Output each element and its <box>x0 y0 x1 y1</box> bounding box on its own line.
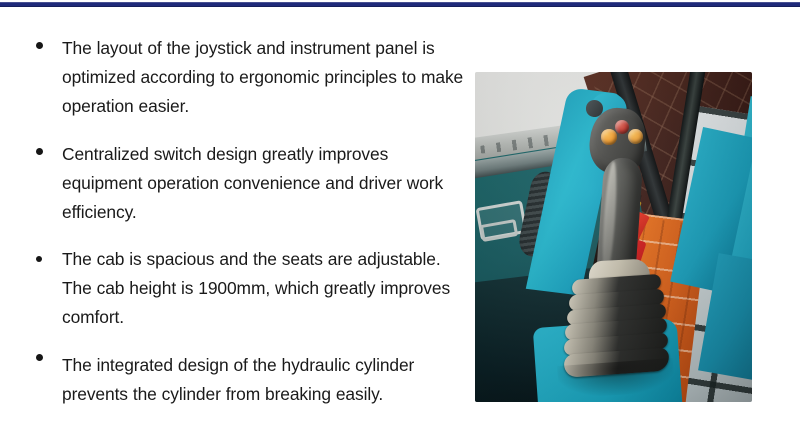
feature-bullet-list: The layout of the joystick and instrumen… <box>36 34 466 426</box>
photo-content <box>475 72 752 402</box>
bullet-marker <box>36 140 62 155</box>
list-item: The integrated design of the hydraulic c… <box>36 351 466 409</box>
list-item: The layout of the joystick and instrumen… <box>36 34 466 121</box>
list-item-text: The cab is spacious and the seats are ad… <box>62 245 466 332</box>
top-divider <box>0 0 800 9</box>
bullet-marker <box>36 34 62 49</box>
bullet-dot-icon <box>36 256 42 262</box>
list-item-text: The layout of the joystick and instrumen… <box>62 34 466 121</box>
bullet-dot-icon <box>36 148 43 155</box>
photo-joystick-amber-button-left <box>601 129 617 145</box>
bullet-marker <box>36 245 62 262</box>
list-item: Centralized switch design greatly improv… <box>36 140 466 227</box>
list-item-text: Centralized switch design greatly improv… <box>62 140 466 227</box>
bullet-marker <box>36 351 62 361</box>
list-item-text: The integrated design of the hydraulic c… <box>62 351 466 409</box>
list-item: The cab is spacious and the seats are ad… <box>36 245 466 332</box>
bullet-dot-icon <box>36 42 43 49</box>
excavator-cab-joystick-photo <box>475 72 752 402</box>
top-divider-shadow <box>0 7 800 9</box>
photo-joystick-amber-button-right <box>628 129 643 144</box>
bullet-dot-icon <box>36 354 43 361</box>
